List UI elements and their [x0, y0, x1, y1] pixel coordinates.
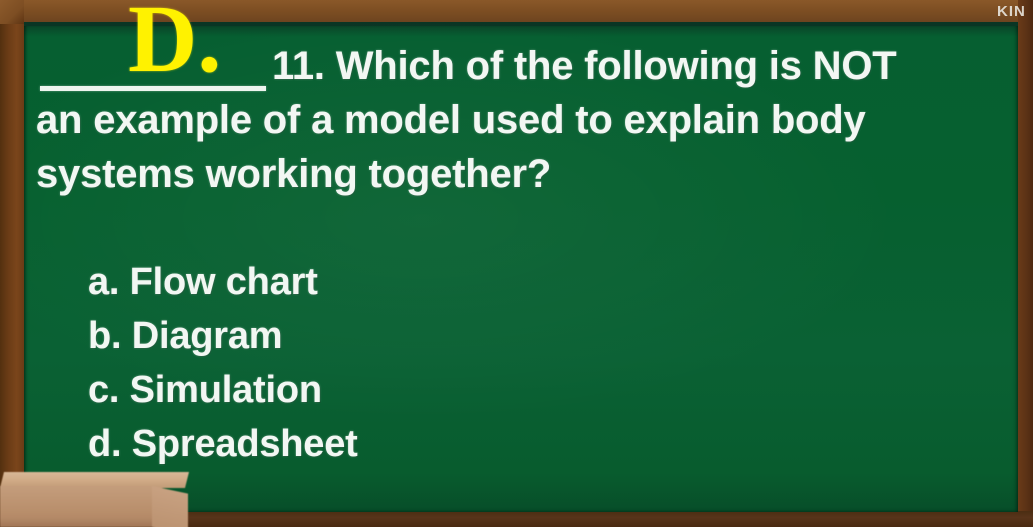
- desk-front-panel: [0, 486, 160, 527]
- desk-side-panel: [152, 486, 188, 527]
- question-line-3: systems working together?: [36, 152, 551, 197]
- frame-corner-bevel: [0, 0, 24, 24]
- slide-canvas: D. 11. Which of the following is NOT an …: [0, 0, 1033, 527]
- desk-shading: [0, 518, 160, 527]
- frame-right-rail: [1018, 0, 1033, 527]
- written-answer-letter: D.: [128, 0, 221, 87]
- option-d[interactable]: d. Spreadsheet: [88, 423, 358, 466]
- option-c[interactable]: c. Simulation: [88, 369, 322, 412]
- channel-watermark: KIN: [997, 0, 1033, 20]
- option-a[interactable]: a. Flow chart: [88, 261, 318, 304]
- question-line-1: 11. Which of the following is NOT: [272, 44, 897, 89]
- frame-left-rail: [0, 0, 24, 527]
- option-b[interactable]: b. Diagram: [88, 315, 282, 358]
- wooden-desk: [0, 472, 190, 527]
- question-line-2: an example of a model used to explain bo…: [36, 98, 866, 143]
